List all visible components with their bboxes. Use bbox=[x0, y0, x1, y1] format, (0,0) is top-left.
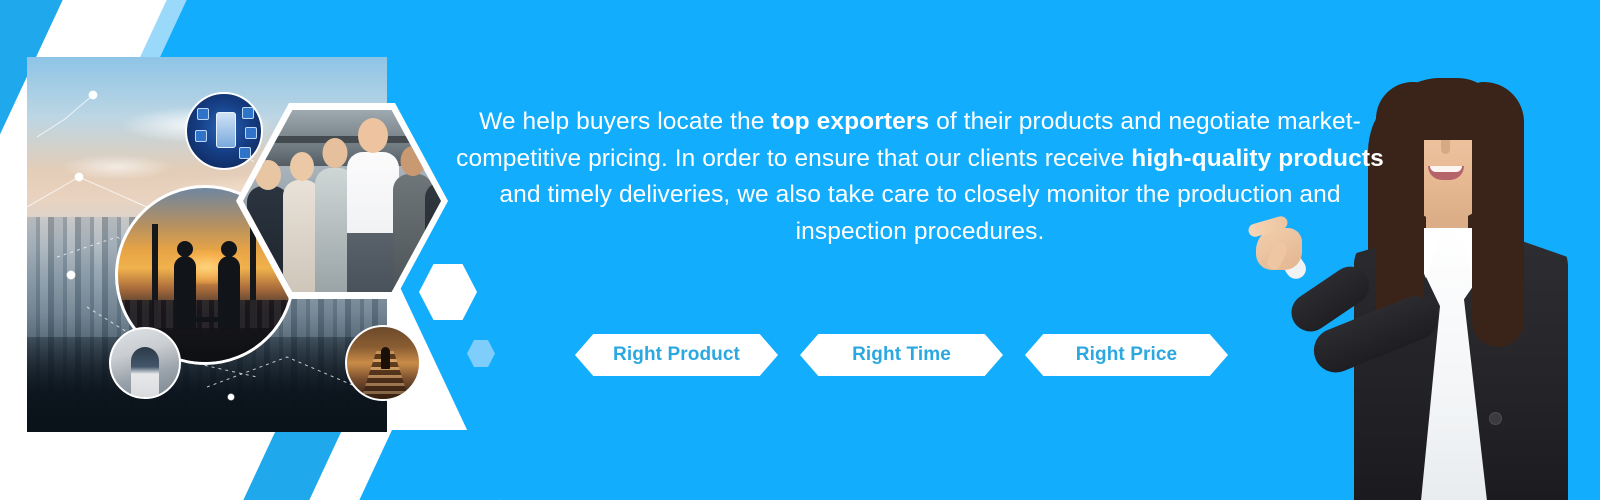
presenter-hair-strand-right bbox=[1472, 82, 1524, 347]
image-collage bbox=[27, 57, 437, 432]
hexagon-decoration-pale bbox=[467, 340, 495, 367]
chip-right-time-label: Right Time bbox=[852, 344, 951, 366]
woman-silhouette bbox=[131, 347, 159, 399]
climbing-person-silhouette bbox=[381, 347, 390, 369]
silhouette-head-right bbox=[221, 241, 237, 257]
team-member-3-head bbox=[323, 138, 348, 168]
copy-emphasis-2: high-quality products bbox=[1131, 145, 1384, 172]
app-icon-3 bbox=[242, 107, 254, 119]
silhouette-person-left bbox=[174, 256, 196, 330]
presenter-teeth bbox=[1430, 166, 1462, 172]
chip-right-price-label: Right Price bbox=[1076, 344, 1177, 366]
copy-segment-1: We help buyers locate the bbox=[479, 108, 771, 135]
team-member-6-head bbox=[433, 156, 441, 186]
team-member-4-head bbox=[358, 118, 388, 153]
team-member-2-head bbox=[290, 152, 314, 181]
team-member-4-center bbox=[347, 152, 399, 292]
handshake-arms bbox=[194, 317, 224, 322]
chip-right-time[interactable]: Right Time bbox=[800, 334, 1003, 376]
app-icon-2 bbox=[195, 130, 207, 142]
chip-right-price[interactable]: Right Price bbox=[1025, 334, 1228, 376]
woman-circle-photo bbox=[109, 327, 181, 399]
chip-right-product[interactable]: Right Product bbox=[575, 334, 778, 376]
copy-emphasis-1: top exporters bbox=[771, 108, 929, 135]
presenter-jacket-button bbox=[1489, 412, 1502, 425]
value-prop-chip-group: Right Product Right Time Right Price bbox=[575, 334, 1228, 376]
chip-right-product-label: Right Product bbox=[613, 344, 740, 366]
smartphone-shape bbox=[216, 112, 236, 148]
team-member-1-head bbox=[255, 160, 281, 190]
banner-description: We help buyers locate the top exporters … bbox=[450, 104, 1390, 250]
copy-segment-3: and timely deliveries, we also take care… bbox=[499, 181, 1340, 245]
promo-banner: We help buyers locate the top exporters … bbox=[0, 0, 1600, 500]
app-icon-5 bbox=[239, 147, 251, 159]
presenter-nose bbox=[1441, 138, 1450, 154]
team-photo-inner bbox=[243, 110, 441, 292]
silhouette-head-left bbox=[177, 241, 193, 257]
staircase-circle-photo bbox=[345, 325, 421, 401]
team-member-5-head bbox=[401, 146, 426, 176]
app-icon-1 bbox=[197, 108, 209, 120]
app-icon-4 bbox=[245, 127, 257, 139]
digital-tech-circle-photo bbox=[185, 92, 263, 170]
